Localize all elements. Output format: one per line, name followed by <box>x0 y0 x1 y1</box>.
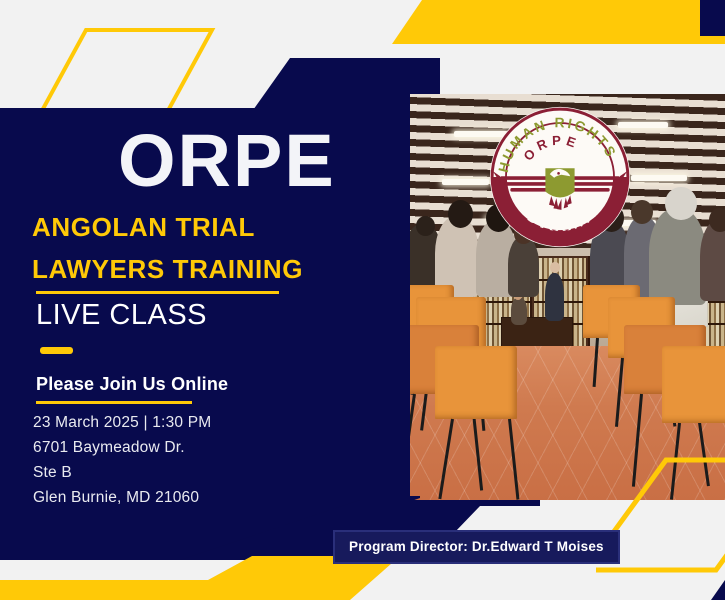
accent-dash <box>40 347 73 354</box>
divider-under-cta <box>36 401 192 404</box>
lecture-hall-photo: HUMAN RIGHTS ADVOCATES ORPE <box>410 94 725 500</box>
bottom-right-navy-corner <box>697 580 725 600</box>
event-details: 23 March 2025 | 1:30 PM 6701 Baymeadow D… <box>33 410 211 510</box>
divider-under-subtitle <box>36 291 279 294</box>
event-type-label: LIVE CLASS <box>36 298 207 332</box>
orpe-human-rights-advocates-logo: HUMAN RIGHTS ADVOCATES ORPE <box>487 104 633 250</box>
subtitle-line-1: ANGOLAN TRIAL <box>32 212 255 242</box>
page-title: ORPE <box>118 124 336 198</box>
program-director-badge: Program Director: Dr.Edward T Moises <box>333 530 620 564</box>
flyer-canvas: HUMAN RIGHTS ADVOCATES ORPE <box>0 0 725 600</box>
call-to-action-label: Please Join Us Online <box>36 374 228 395</box>
top-yellow-band <box>392 0 725 44</box>
subtitle-line-2: LAWYERS TRAINING <box>32 254 303 284</box>
top-right-navy-corner <box>700 0 725 36</box>
